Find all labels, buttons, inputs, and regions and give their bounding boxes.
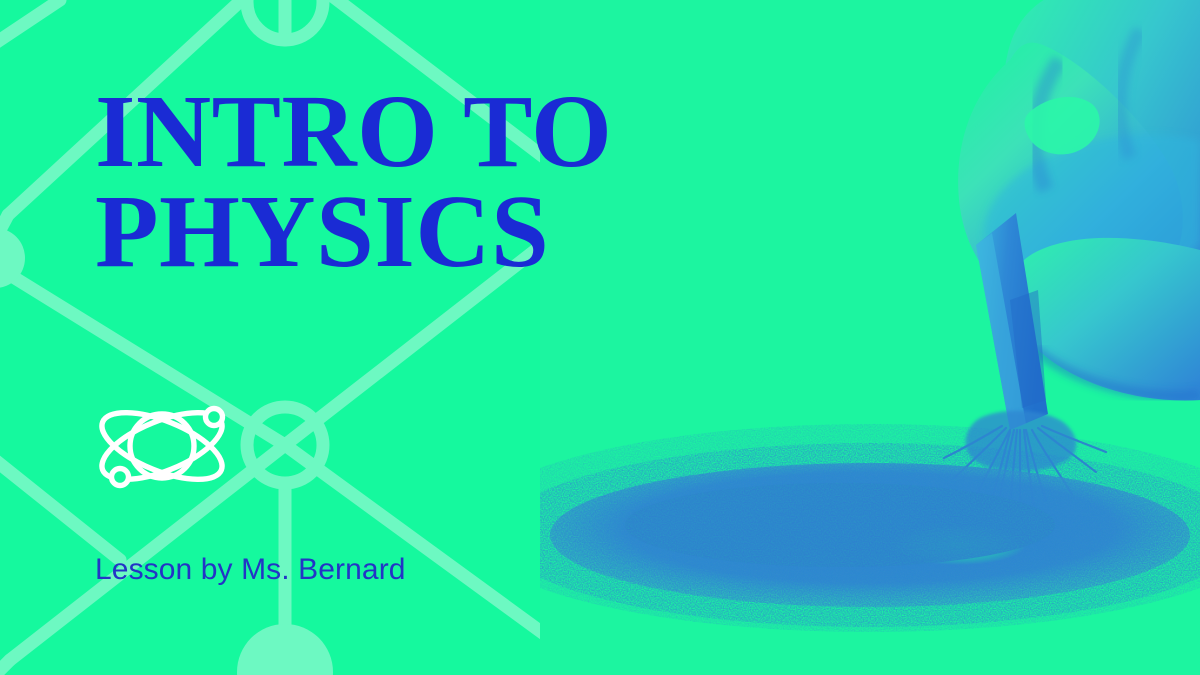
title-slide: INTRO TO PHYSICS Lesson by Ms. Bernard bbox=[0, 0, 1200, 675]
page-title: INTRO TO PHYSICS bbox=[95, 82, 715, 282]
iron-filings-pile bbox=[540, 424, 1200, 632]
lattice-node-ring bbox=[247, 0, 323, 40]
electron-dot bbox=[206, 409, 223, 426]
title-block: INTRO TO PHYSICS bbox=[95, 82, 715, 282]
lattice-node-ring bbox=[247, 407, 323, 483]
byline: Lesson by Ms. Bernard bbox=[95, 553, 406, 587]
lattice-node-filled bbox=[0, 228, 25, 288]
atom-icon bbox=[88, 396, 242, 496]
lattice-node-filled bbox=[237, 624, 333, 675]
electron-dot bbox=[112, 469, 129, 486]
